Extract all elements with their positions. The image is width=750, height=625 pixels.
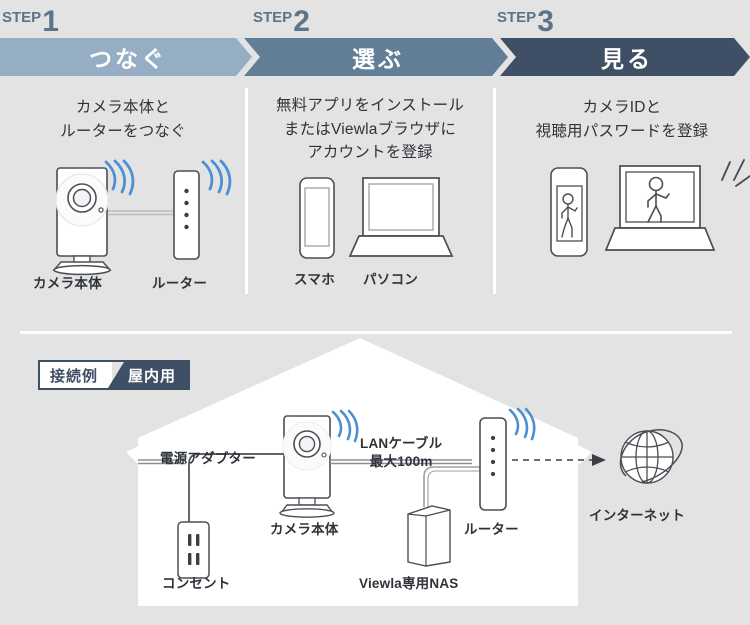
step-2-panel: 無料アプリをインストール またはViewlaブラウザに アカウントを登録 スマホ… [246,84,494,294]
outlet-icon [176,520,212,580]
wifi-waves-icon [504,406,536,442]
wifi-waves-icon [99,158,135,198]
badge-right-label: 屋内用 [124,362,188,388]
step-2-description: 無料アプリをインストール またはViewlaブラウザに アカウントを登録 [246,94,494,165]
step-3-number: 3 [537,5,554,38]
step-3-chevron: 見る [500,38,750,76]
laptop-viewing-icon [604,164,716,258]
dashed-arrow-icon [512,452,610,468]
laptop-icon [348,176,454,260]
step-1-label: STEP1 [2,5,59,39]
smartphone-viewing-icon [549,166,591,258]
step-1-description-line-1: カメラ本体と [0,96,246,120]
lan-cable-line [108,209,180,217]
step-2-title: 選ぶ [348,40,404,74]
step-2-chevron: 選ぶ [244,38,508,76]
power-adapter-label: 電源アダプター [160,447,256,467]
badge-left-label: 接続例 [40,362,112,388]
step-1-item-label-camera: カメラ本体 [33,272,102,292]
infographic-root: STEP1 STEP2 STEP3 つなぐ 選ぶ 見る カメラ本体と ルーターを… [0,0,750,625]
step-2-item-label-smartphone: スマホ [294,268,335,288]
step-2-description-line-1: 無料アプリをインストール [246,94,494,118]
lan-cable-label-line-2: 最大100m [360,453,442,471]
router-label: ルーター [464,518,519,538]
step-2-number: 2 [293,5,310,38]
step-2-item-label-pc: パソコン [363,268,418,288]
step-3-description-line-2: 視聴用パスワードを登録 [494,120,750,144]
step-1-description-line-2: ルーターをつなぐ [0,120,246,144]
step-1-number: 1 [42,5,59,38]
lan-cable-label-line-1: LANケーブル [360,435,442,453]
smartphone-icon [298,176,338,260]
step-1-panel: カメラ本体と ルーターをつなぐ [0,84,246,294]
step-1-chevron: つなぐ [0,38,252,76]
step-3-description-line-1: カメラIDと [494,96,750,120]
step-3-title: 見る [597,40,653,74]
steps-header-row: STEP1 STEP2 STEP3 つなぐ 選ぶ 見る [0,0,750,78]
globe-internet-icon [612,424,686,494]
nas-icon [404,502,454,568]
step-3-label: STEP3 [497,5,554,39]
step-2-label: STEP2 [253,5,310,39]
step-2-word: STEP [253,9,292,26]
step-1-description: カメラ本体と ルーターをつなぐ [0,96,246,143]
step-3-word: STEP [497,9,536,26]
step-3-description: カメラIDと 視聴用パスワードを登録 [494,96,750,143]
nas-label: Viewla専用NAS [359,572,458,592]
lan-cable-label: LANケーブル 最大100m [360,435,442,470]
outlet-label: コンセント [162,572,231,592]
wifi-waves-icon [327,408,359,444]
connection-example-badge: 接続例 屋内用 [38,360,190,390]
camera-label: カメラ本体 [270,518,339,538]
step-1-word: STEP [2,9,41,26]
step-1-item-label-router: ルーター [152,272,207,292]
internet-label: インターネット [589,504,685,524]
step-2-description-line-3: アカウントを登録 [246,141,494,165]
motion-lines-icon [718,158,750,192]
step-2-description-line-2: またはViewlaブラウザに [246,118,494,142]
step-1-title: つなぐ [85,40,167,74]
step-3-panel: カメラIDと 視聴用パスワードを登録 [494,84,750,294]
wifi-waves-icon [196,158,232,198]
